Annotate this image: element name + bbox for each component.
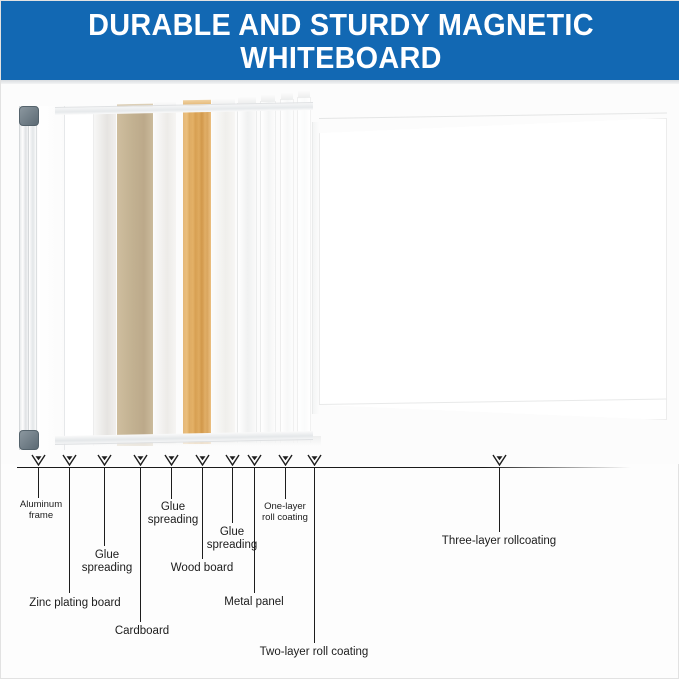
callout-label-4: Glue spreading bbox=[148, 501, 199, 527]
header-banner: DURABLE AND STURDY MAGNETIC WHITEBOARD bbox=[1, 1, 679, 80]
callout-leader-1 bbox=[69, 467, 70, 593]
callout-label-2: Glue spreading bbox=[82, 549, 133, 575]
callout-leader-2 bbox=[104, 467, 105, 546]
whiteboard-layer-illustration bbox=[1, 84, 679, 464]
callout-label-10: Three-layer rollcoating bbox=[442, 535, 556, 548]
frame-corner-bracket-bottom-left bbox=[19, 430, 39, 450]
layer-two-layer-roll-coating bbox=[280, 99, 294, 443]
layer-one-layer-roll-coating bbox=[260, 101, 276, 443]
banner-inner: DURABLE AND STURDY MAGNETIC WHITEBOARD bbox=[21, 8, 661, 74]
product-infographic-page: DURABLE AND STURDY MAGNETIC WHITEBOARD bbox=[0, 0, 679, 679]
frame-corner-bracket-top-left bbox=[19, 106, 39, 126]
callout-leader-3 bbox=[140, 467, 141, 622]
frame-rail-outer bbox=[19, 106, 29, 450]
layer-backing-panel bbox=[297, 97, 311, 443]
layer-metal-panel bbox=[237, 103, 257, 443]
frame-face bbox=[38, 106, 65, 450]
callout-leader-5 bbox=[202, 467, 203, 559]
callout-leader-0 bbox=[38, 467, 39, 498]
callout-leader-4 bbox=[171, 467, 172, 499]
frame-rail-inner bbox=[30, 106, 37, 450]
layer-glue-spreading-2 bbox=[154, 108, 176, 444]
callout-leader-10 bbox=[499, 467, 500, 532]
layer-glue-spreading-3 bbox=[212, 105, 235, 443]
callout-label-5: Wood board bbox=[171, 562, 233, 575]
three-layer-rollcoating-board bbox=[319, 118, 667, 420]
page-title: DURABLE AND STURDY MAGNETIC WHITEBOARD bbox=[43, 8, 638, 74]
callout-label-0: Aluminum frame bbox=[20, 499, 62, 521]
callout-leader-8 bbox=[285, 467, 286, 499]
callout-leader-6 bbox=[232, 467, 233, 523]
callout-label-3: Cardboard bbox=[115, 625, 169, 638]
callout-baseline bbox=[17, 467, 631, 468]
callout-label-7: Metal panel bbox=[224, 596, 283, 609]
layer-wood-board bbox=[183, 106, 211, 444]
board-side-edge bbox=[312, 122, 320, 414]
callout-label-6: Glue spreading bbox=[207, 526, 258, 552]
callout-label-1: Zinc plating board bbox=[29, 597, 120, 610]
board-top-edge bbox=[319, 113, 667, 119]
layer-glue-spreading-1 bbox=[94, 112, 116, 444]
callout-leader-9 bbox=[314, 467, 315, 643]
layer-cardboard bbox=[117, 110, 153, 446]
board-white-surface bbox=[319, 118, 667, 420]
callout-label-9: Two-layer roll coating bbox=[260, 646, 369, 659]
callout-label-8: One-layer roll coating bbox=[262, 501, 308, 523]
aluminum-frame-assembly bbox=[19, 106, 65, 450]
callout-leader-7 bbox=[254, 467, 255, 593]
